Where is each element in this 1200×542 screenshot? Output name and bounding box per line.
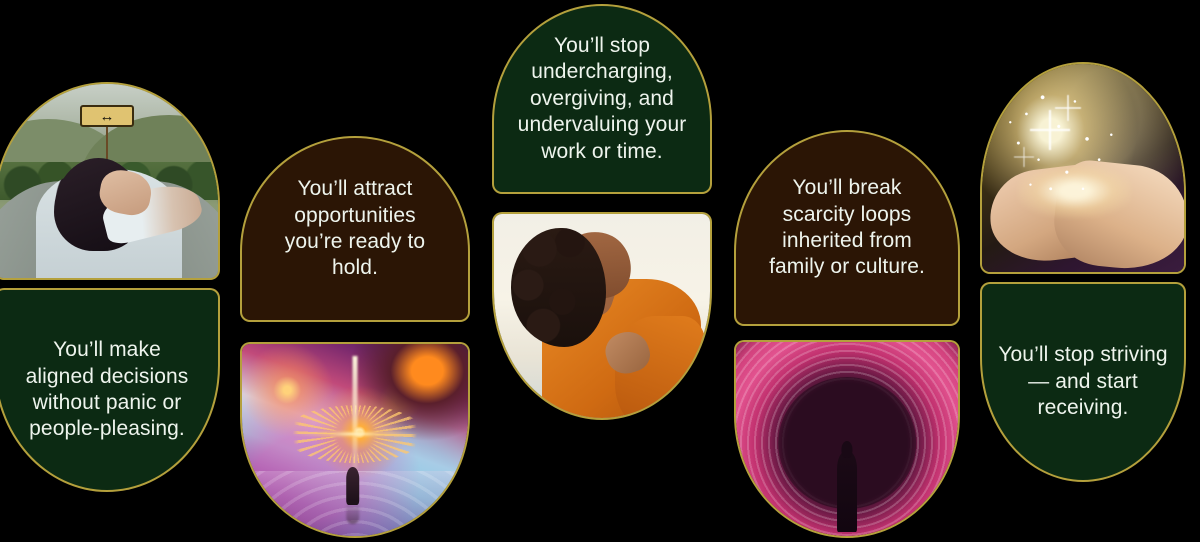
artwork-woman-self-embrace: [494, 214, 710, 418]
horizontal-flare: [289, 430, 420, 438]
card-crossroads-image: ↔: [0, 82, 220, 280]
light-beam: [353, 356, 358, 475]
artwork-crossroads: ↔: [0, 84, 218, 278]
card-woman-orange-image: [492, 212, 712, 420]
card-cosmic-portal-image: [240, 342, 470, 538]
card-pink-tunnel-image: [734, 340, 960, 538]
card-aligned-decisions[interactable]: You’ll make aligned decisions without pa…: [0, 288, 220, 492]
card-label: You’ll attract opportunities you’re read…: [271, 176, 439, 282]
two-way-arrow-icon: ↔: [80, 105, 134, 127]
silhouette-body: [837, 451, 857, 532]
card-stop-undercharging[interactable]: You’ll stop undercharging, overgiving, a…: [492, 4, 712, 194]
artwork-cosmic-portal: [242, 344, 468, 536]
card-label: You’ll make aligned decisions without pa…: [12, 337, 203, 443]
silhouette-head: [841, 441, 852, 458]
artwork-pink-spiral-tunnel: [736, 342, 958, 536]
benefits-card-grid: ↔ You’ll make aligned decisions without …: [0, 0, 1200, 542]
sparkle-stars: [982, 64, 1184, 272]
curly-hair: [511, 228, 606, 346]
card-break-scarcity-loops[interactable]: You’ll break scarcity loops inherited fr…: [734, 130, 960, 326]
card-label: You’ll stop striving — and start receivi…: [984, 342, 1181, 421]
star-burst-icon: [1055, 95, 1081, 121]
card-attract-opportunities[interactable]: You’ll attract opportunities you’re read…: [240, 136, 470, 322]
standing-figure: [346, 467, 360, 505]
star-burst-icon: [1014, 147, 1034, 167]
artwork-cupped-hands-sparkles: [982, 64, 1184, 272]
card-stop-striving[interactable]: You’ll stop striving — and start receivi…: [980, 282, 1186, 482]
card-sparkling-hands-image: [980, 62, 1186, 274]
figure-reflection: [346, 501, 360, 524]
card-label: You’ll stop undercharging, overgiving, a…: [504, 33, 701, 165]
card-label: You’ll break scarcity loops inherited fr…: [755, 175, 939, 281]
